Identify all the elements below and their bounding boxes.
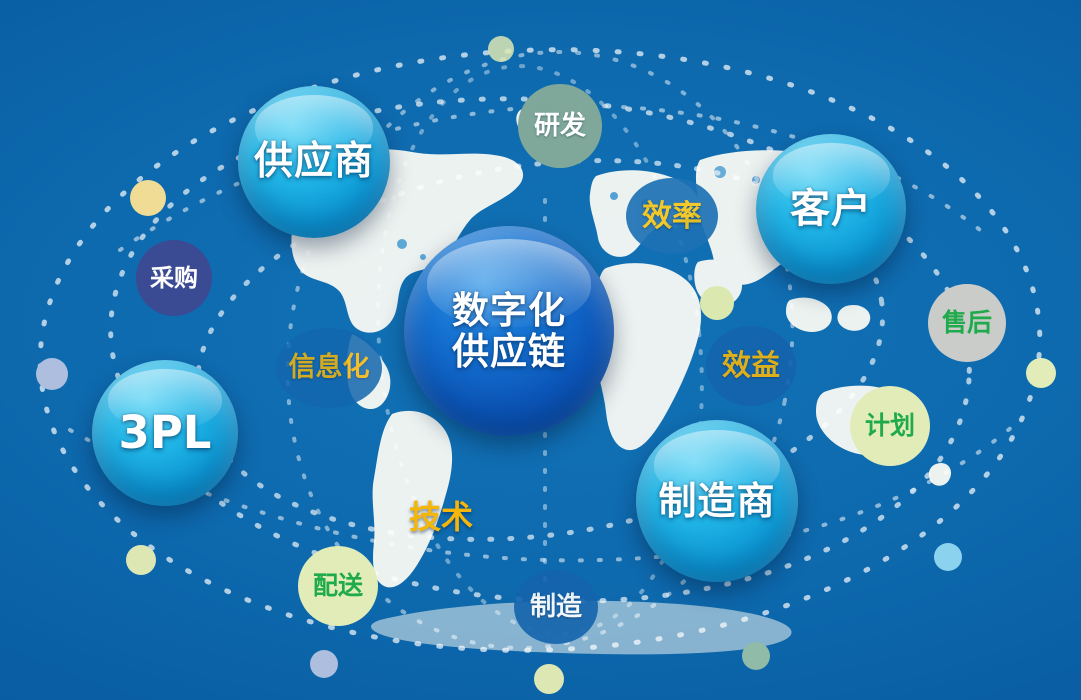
node-plan[interactable]: 计划 [850, 386, 930, 466]
node-customer-label: 客户 [790, 187, 872, 232]
node-center-digital-supply-chain[interactable]: 数字化 供应链 [404, 226, 614, 436]
decor-dot [126, 545, 156, 575]
node-after-sales-label: 售后 [942, 309, 992, 337]
node-supplier-label: 供应商 [254, 140, 374, 184]
node-after-sales[interactable]: 售后 [928, 284, 1006, 362]
node-informatization-label: 信息化 [289, 353, 370, 383]
node-rd[interactable]: 研发 [518, 84, 602, 168]
node-plan-label: 计划 [865, 412, 915, 440]
node-delivery[interactable]: 配送 [298, 546, 378, 626]
decor-dot [310, 650, 338, 678]
supply-chain-infographic: 供应商 客户 3PL 制造商 数字化 供应链 研发 效率 售后 效益 计划 采购… [0, 0, 1081, 700]
node-center-label-line1: 数字化 [452, 289, 566, 332]
decor-dot [1026, 358, 1056, 388]
node-informatization[interactable]: 信息化 [276, 328, 382, 408]
node-center-label: 数字化 供应链 [452, 290, 566, 373]
decor-dot [130, 180, 166, 216]
node-technology-label: 技术 [409, 500, 473, 535]
node-delivery-label: 配送 [313, 572, 363, 600]
node-technology[interactable]: 技术 [398, 486, 484, 550]
decor-dot [742, 642, 770, 670]
node-manufacturing-label: 制造 [530, 593, 582, 622]
node-efficiency[interactable]: 效率 [626, 178, 718, 254]
node-3pl[interactable]: 3PL [92, 360, 238, 506]
node-benefit-label: 效益 [722, 350, 780, 382]
decor-dot [36, 358, 68, 390]
decor-dot [534, 664, 564, 694]
node-rd-label: 研发 [534, 112, 586, 141]
node-supplier[interactable]: 供应商 [238, 86, 390, 238]
node-benefit[interactable]: 效益 [706, 326, 796, 406]
node-3pl-label: 3PL [119, 408, 212, 458]
node-manufacturer-label: 制造商 [658, 480, 775, 523]
decor-dot [700, 286, 734, 320]
node-manufacturing[interactable]: 制造 [514, 570, 598, 644]
node-manufacturer[interactable]: 制造商 [636, 420, 798, 582]
node-efficiency-label: 效率 [642, 200, 702, 233]
node-customer[interactable]: 客户 [756, 134, 906, 284]
node-procurement[interactable]: 采购 [136, 240, 212, 316]
decor-dot [488, 36, 514, 62]
node-procurement-label: 采购 [150, 265, 198, 291]
decor-dot [934, 543, 962, 571]
node-center-label-line2: 供应链 [452, 330, 566, 373]
